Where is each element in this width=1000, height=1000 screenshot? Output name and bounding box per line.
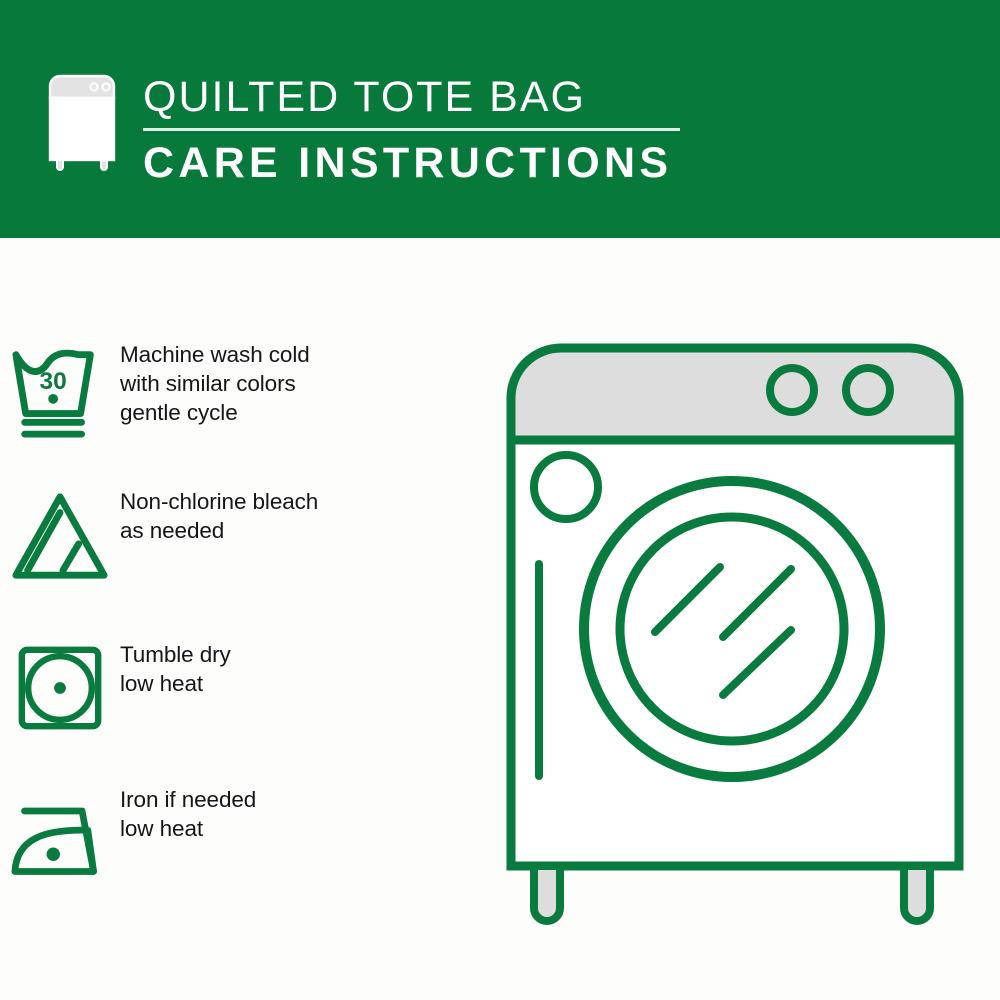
care-row-tumble-dry: Tumble dry low heat [0, 638, 470, 734]
wash-tub-30-gentle-icon: 30 [0, 338, 120, 440]
care-row-bleach: Non-chlorine bleach as needed [0, 485, 470, 587]
care-text-tumble-dry: Tumble dry low heat [120, 638, 231, 698]
page-title-care-instructions: CARE INSTRUCTIONS [143, 137, 703, 189]
care-text-machine-wash: Machine wash cold with similar colors ge… [120, 338, 310, 427]
tumble-dry-low-heat-icon [0, 638, 120, 734]
washing-machine-icon [44, 68, 120, 172]
non-chlorine-bleach-triangle-icon [0, 485, 120, 587]
title-divider [143, 128, 680, 131]
care-text-iron: Iron if needed low heat [120, 783, 256, 843]
care-row-machine-wash: 30 Machine wash cold with similar colors… [0, 338, 470, 440]
header-band: QUILTED TOTE BAG CARE INSTRUCTIONS [0, 0, 1000, 238]
care-row-iron: Iron if needed low heat [0, 783, 470, 883]
iron-low-heat-icon [0, 783, 120, 883]
page-title-product: QUILTED TOTE BAG [143, 72, 703, 122]
header-title-block: QUILTED TOTE BAG CARE INSTRUCTIONS [143, 72, 703, 189]
care-instruction-list: 30 Machine wash cold with similar colors… [0, 238, 470, 1000]
svg-text:30: 30 [40, 368, 67, 395]
care-text-bleach: Non-chlorine bleach as needed [120, 485, 318, 545]
front-load-washing-machine-illustration [495, 332, 975, 932]
care-instructions-infographic: QUILTED TOTE BAG CARE INSTRUCTIONS 30 [0, 0, 1000, 1000]
